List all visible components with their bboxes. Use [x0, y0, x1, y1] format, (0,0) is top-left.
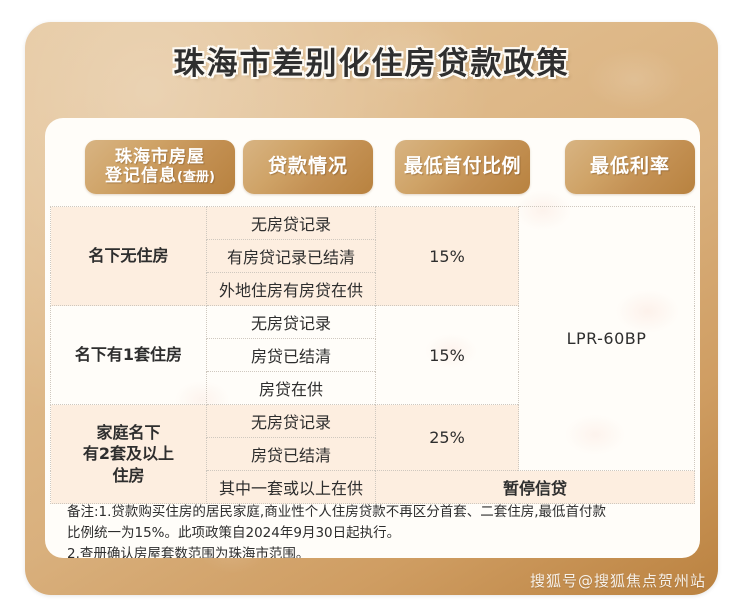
condition-cell: 无房贷记录 — [207, 207, 376, 240]
content-panel: 珠海市房屋 登记信息(查册) 贷款情况 最低首付比例 最低利率 名下无住房 无房… — [45, 118, 700, 558]
poster-card: 珠海市差别化住房贷款政策 珠海市房屋 登记信息(查册) 贷款情况 最低首付比例 … — [25, 22, 718, 595]
ownership-line3: 住房 — [112, 466, 144, 485]
suspended-credit-cell: 暂停信贷 — [376, 471, 695, 504]
header-pill-registration-line2: 登记信息 — [105, 166, 177, 186]
min-rate-cell: LPR-60BP — [519, 207, 695, 471]
down-payment-cell: 25% — [376, 405, 519, 471]
header-pill-min-rate-label: 最低利率 — [590, 156, 670, 177]
condition-cell: 无房贷记录 — [207, 306, 376, 339]
ownership-cell-two-or-more-housing: 家庭名下 有2套及以上 住房 — [51, 405, 207, 504]
header-pill-loan-status-label: 贷款情况 — [268, 156, 348, 177]
condition-cell-suspended: 其中一套或以上在供 — [207, 471, 376, 504]
ownership-cell-no-housing: 名下无住房 — [51, 207, 207, 306]
condition-cell: 无房贷记录 — [207, 405, 376, 438]
down-payment-cell: 15% — [376, 207, 519, 306]
header-pill-min-rate: 最低利率 — [565, 140, 695, 194]
condition-cell: 房贷在供 — [207, 372, 376, 405]
footnote-line-1: 备注:1.贷款购买住房的居民家庭,商业性个人住房贷款不再区分首套、二套住房,最低… — [67, 502, 684, 523]
title-container: 珠海市差别化住房贷款政策 — [25, 38, 718, 83]
condition-cell: 房贷已结清 — [207, 438, 376, 471]
policy-matrix-table: 名下无住房 无房贷记录 15% LPR-60BP 有房贷记录已结清 外地住房有房… — [50, 206, 695, 504]
watermark: 搜狐号@搜狐焦点贺州站 — [530, 570, 706, 591]
table-row: 名下无住房 无房贷记录 15% LPR-60BP — [51, 207, 695, 240]
footnote-line-2: 比例统一为15%。此项政策自2024年9月30日起执行。 — [67, 523, 684, 544]
ownership-cell-one-housing: 名下有1套住房 — [51, 306, 207, 405]
header-pill-min-down-payment-label: 最低首付比例 — [404, 156, 521, 177]
header-pill-registration-suffix: (查册) — [177, 170, 215, 185]
header-pill-loan-status: 贷款情况 — [243, 140, 373, 194]
table-header-row: 珠海市房屋 登记信息(查册) 贷款情况 最低首付比例 最低利率 — [45, 140, 700, 194]
footnote-line-3: 2.查册确认房屋套数范围为珠海市范围。 — [67, 544, 684, 558]
down-payment-cell: 15% — [376, 306, 519, 405]
condition-cell: 房贷已结清 — [207, 339, 376, 372]
ownership-line2: 有2套及以上 — [83, 444, 174, 463]
header-pill-registration-info: 珠海市房屋 登记信息(查册) — [85, 140, 235, 194]
ownership-line1: 家庭名下 — [96, 423, 160, 442]
header-pill-registration-line1: 珠海市房屋 — [115, 147, 205, 167]
condition-cell: 有房贷记录已结清 — [207, 240, 376, 273]
page-title: 珠海市差别化住房贷款政策 — [174, 38, 570, 83]
footnotes: 备注:1.贷款购买住房的居民家庭,商业性个人住房贷款不再区分首套、二套住房,最低… — [67, 502, 684, 558]
header-pill-min-down-payment: 最低首付比例 — [395, 140, 530, 194]
condition-cell: 外地住房有房贷在供 — [207, 273, 376, 306]
